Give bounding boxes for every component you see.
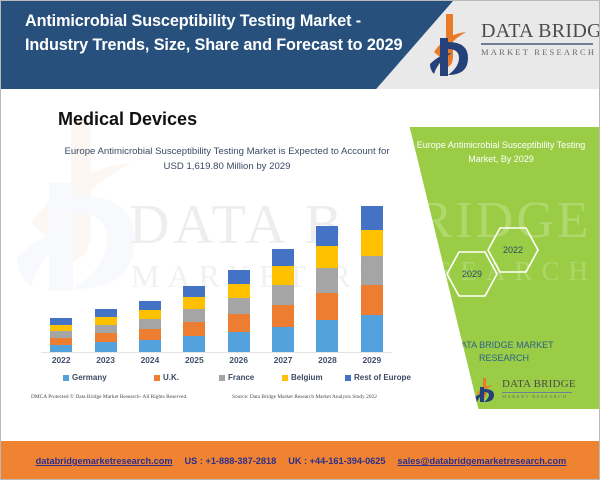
bar-segment-rest-of-europe: [139, 301, 161, 310]
bar-segment-rest-of-europe: [316, 226, 338, 246]
x-tick-2027: 2027: [263, 355, 303, 365]
chart-subtitle: Europe Antimicrobial Susceptibility Test…: [63, 145, 391, 174]
green-panel-footer: DATA BRIDGE MARKET RESEARCH: [434, 339, 574, 365]
bar-2027: [272, 249, 294, 352]
brand-tagline: MARKET RESEARCH: [481, 47, 593, 57]
hexagon-2029-label: 2029: [462, 269, 482, 279]
slide-body: DATA B MARKET RE Medical Devices Europe …: [1, 89, 600, 441]
bar-segment-rest-of-europe: [361, 206, 383, 230]
bar-segment-belgium: [95, 317, 117, 325]
legend-item-belgium[interactable]: Belgium: [282, 373, 323, 382]
legend-item-france[interactable]: France: [219, 373, 254, 382]
legend-swatch-icon: [219, 375, 225, 381]
chart-legend: GermanyU.K.FranceBelgiumRest of Europe: [39, 373, 394, 387]
legend-item-u-k[interactable]: U.K.: [154, 373, 179, 382]
x-tick-2026: 2026: [219, 355, 259, 365]
bar-segment-rest-of-europe: [50, 318, 72, 325]
bar-segment-france: [316, 268, 338, 292]
chart-plot-area: [39, 201, 394, 353]
brand-logo: DATA BRIDGE MARKET RESEARCH: [426, 8, 594, 82]
bar-segment-germany: [139, 340, 161, 352]
legend-swatch-icon: [154, 375, 160, 381]
bar-segment-u-k: [183, 322, 205, 336]
green-footer-line1: DATA BRIDGE MARKET: [434, 339, 574, 352]
chart-x-axis: [41, 352, 392, 353]
green-footer-line2: RESEARCH: [434, 352, 574, 365]
green-logo-tagline: MARKET RESEARCH: [502, 394, 567, 399]
bar-segment-u-k: [139, 329, 161, 340]
bar-segment-u-k: [316, 293, 338, 320]
legend-label: Rest of Europe: [354, 373, 411, 382]
bar-segment-germany: [316, 320, 338, 352]
x-tick-2028: 2028: [307, 355, 347, 365]
green-panel-logo: DATA BRIDGE MARKET RESEARCH: [474, 376, 582, 404]
bar-2024: [139, 301, 161, 352]
hexagon-2022-label: 2022: [503, 245, 523, 255]
bar-segment-france: [95, 325, 117, 333]
data-bridge-b-logo-icon-small: [474, 377, 498, 403]
bar-2029: [361, 206, 383, 352]
bar-segment-belgium: [183, 297, 205, 309]
brand-divider: [481, 43, 593, 45]
bar-segment-rest-of-europe: [183, 286, 205, 297]
brand-logo-text: DATA BRIDGE MARKET RESEARCH: [481, 20, 593, 57]
bar-segment-belgium: [228, 284, 250, 298]
bar-segment-germany: [228, 332, 250, 352]
bar-segment-france: [50, 331, 72, 338]
legend-label: Belgium: [291, 373, 323, 382]
bar-segment-france: [228, 298, 250, 314]
bar-2023: [95, 309, 117, 352]
bar-2028: [316, 226, 338, 352]
bar-segment-germany: [50, 345, 72, 352]
bar-segment-u-k: [361, 285, 383, 315]
bar-segment-france: [361, 256, 383, 284]
page-title: Antimicrobial Susceptibility Testing Mar…: [25, 10, 415, 57]
legend-item-germany[interactable]: Germany: [63, 373, 107, 382]
bar-2026: [228, 269, 250, 352]
green-logo-name: DATA BRIDGE: [502, 378, 576, 390]
legend-label: U.K.: [163, 373, 179, 382]
bar-segment-germany: [95, 342, 117, 352]
bar-segment-belgium: [139, 310, 161, 319]
bar-segment-u-k: [272, 305, 294, 327]
bar-segment-germany: [272, 327, 294, 352]
footnote-dmca: DMCA Protected © Data Bridge Market Rese…: [31, 394, 188, 400]
legend-item-rest-of-europe[interactable]: Rest of Europe: [345, 373, 411, 382]
email-link[interactable]: sales@databridgemarketresearch.com: [398, 456, 567, 466]
slide-root: Antimicrobial Susceptibility Testing Mar…: [0, 0, 600, 480]
bar-2022: [50, 318, 72, 352]
x-tick-2025: 2025: [174, 355, 214, 365]
footnote-source: Source: Data Bridge Market Research Mark…: [232, 394, 377, 400]
x-tick-2024: 2024: [130, 355, 170, 365]
bar-segment-rest-of-europe: [228, 270, 250, 284]
bar-segment-u-k: [50, 338, 72, 345]
green-panel-title: Europe Antimicrobial Susceptibility Test…: [408, 139, 594, 166]
bar-segment-belgium: [316, 246, 338, 268]
contact-bar: databridgemarketresearch.com US : +1-888…: [1, 441, 600, 480]
us-phone: US : +1-888-387-2818: [185, 456, 277, 466]
bar-segment-france: [139, 319, 161, 329]
x-tick-2023: 2023: [86, 355, 126, 365]
bar-segment-u-k: [95, 333, 117, 342]
legend-label: France: [228, 373, 254, 382]
chart-x-tick-labels: 20222023202420252026202720282029: [39, 355, 394, 369]
bar-segment-germany: [183, 336, 205, 352]
stacked-bar-chart: 20222023202420252026202720282029 Germany…: [39, 201, 394, 359]
brand-name: DATA BRIDGE: [481, 20, 593, 42]
section-title: Medical Devices: [58, 109, 197, 130]
bar-segment-belgium: [272, 266, 294, 284]
x-tick-2029: 2029: [352, 355, 392, 365]
website-link[interactable]: databridgemarketresearch.com: [36, 456, 173, 466]
x-tick-2022: 2022: [41, 355, 81, 365]
bar-segment-france: [272, 285, 294, 305]
legend-swatch-icon: [345, 375, 351, 381]
bar-segment-rest-of-europe: [272, 249, 294, 266]
bar-segment-france: [183, 309, 205, 322]
legend-label: Germany: [72, 373, 107, 382]
data-bridge-b-logo-icon: [426, 12, 476, 78]
bar-segment-belgium: [361, 230, 383, 256]
header-banner: Antimicrobial Susceptibility Testing Mar…: [1, 1, 600, 89]
uk-phone: UK : +44-161-394-0625: [288, 456, 385, 466]
legend-swatch-icon: [63, 375, 69, 381]
bar-segment-u-k: [228, 314, 250, 332]
bar-2025: [183, 286, 205, 352]
bar-segment-rest-of-europe: [95, 309, 117, 317]
hexagon-2022: 2022: [487, 227, 539, 273]
legend-swatch-icon: [282, 375, 288, 381]
bar-segment-germany: [361, 315, 383, 352]
